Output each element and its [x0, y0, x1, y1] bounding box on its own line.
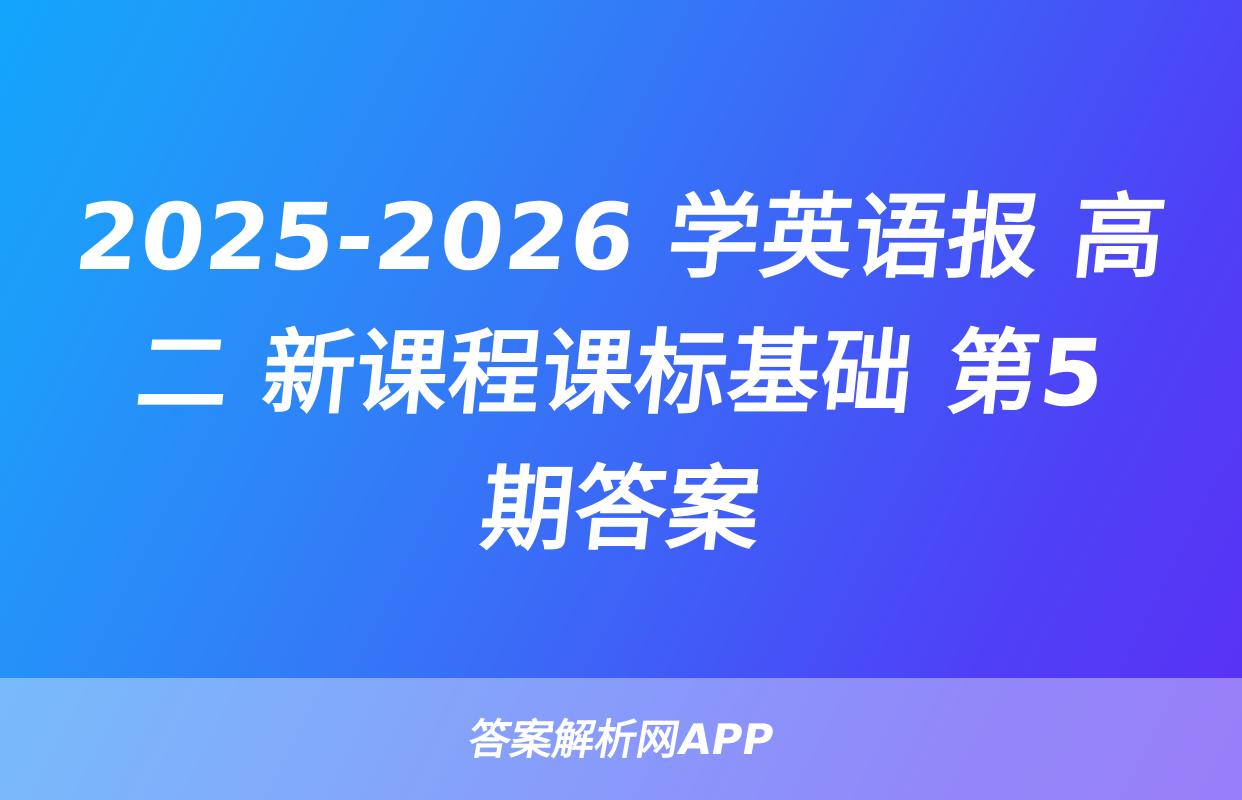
promo-poster: 2025-2026 学英语报 高 二 新课程课标基础 第5 期答案 答案解析网A… [0, 0, 1242, 800]
poster-title-line-1: 2025-2026 学英语报 高 [41, 170, 1201, 306]
poster-footer-band: 答案解析网APP [0, 678, 1242, 800]
poster-title-line-2: 二 新课程课标基础 第5 [41, 306, 1201, 442]
poster-title-block: 2025-2026 学英语报 高 二 新课程课标基础 第5 期答案 [0, 170, 1242, 610]
poster-title-line-3: 期答案 [41, 442, 1201, 578]
app-brand-label: 答案解析网APP [465, 717, 777, 763]
